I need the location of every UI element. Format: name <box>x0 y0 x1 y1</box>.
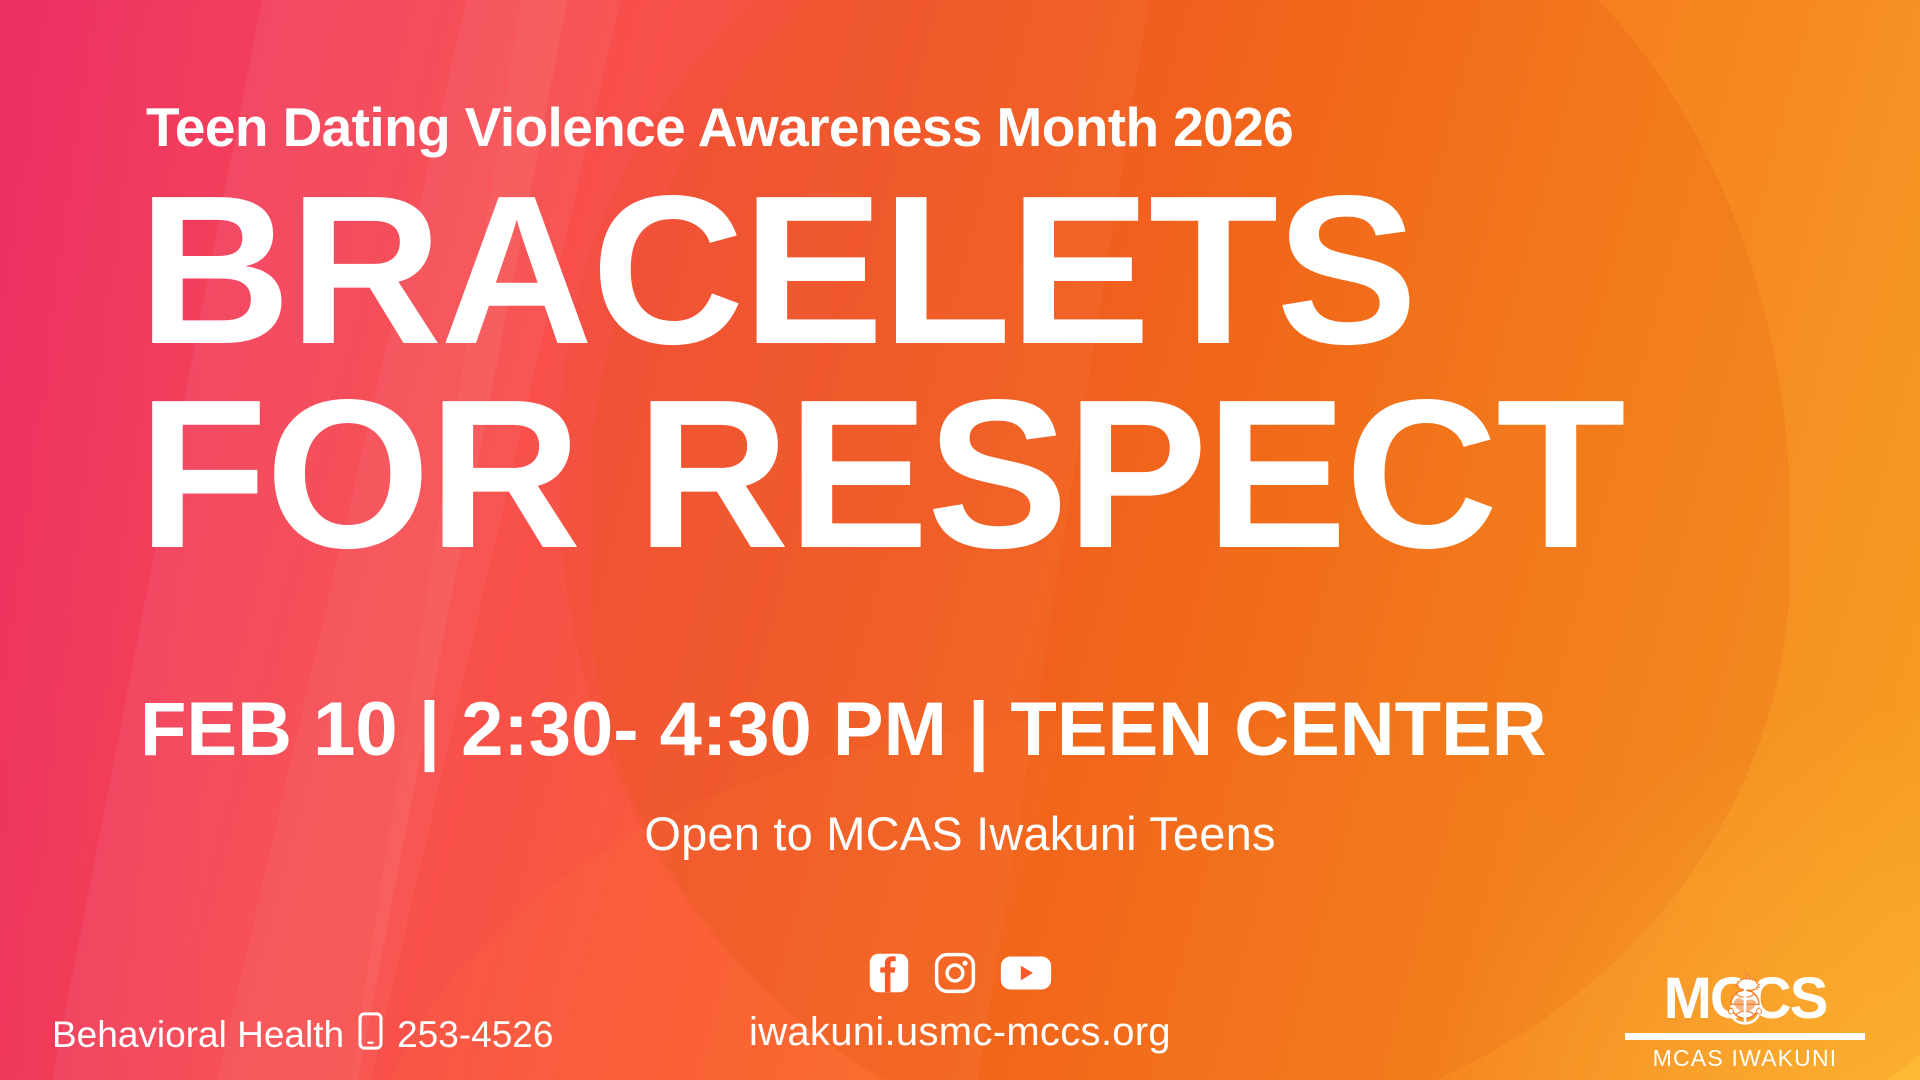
campaign-eyebrow: Teen Dating Violence Awareness Month 202… <box>146 100 1293 155</box>
event-title-line-2: FOR RESPECT <box>138 372 1818 576</box>
facebook-icon[interactable] <box>868 952 910 999</box>
eagle-globe-anchor-icon <box>1712 967 1778 1033</box>
event-title: BRACELETS FOR RESPECT <box>138 168 1818 575</box>
event-datetime-location: FEB 10 | 2:30- 4:30 PM | TEEN CENTER <box>140 692 1547 768</box>
mccs-logo-divider <box>1625 1033 1865 1040</box>
youtube-icon[interactable] <box>1000 952 1052 999</box>
poster-canvas: Teen Dating Violence Awareness Month 202… <box>0 0 1920 1080</box>
mccs-wordmark-row: MCCS <box>1625 968 1865 1030</box>
eligibility-note: Open to MCAS Iwakuni Teens <box>0 810 1920 857</box>
instagram-icon[interactable] <box>934 952 976 999</box>
event-title-line-1: BRACELETS <box>138 151 1416 388</box>
mccs-logo-subtitle: MCAS IWAKUNI <box>1625 1047 1865 1070</box>
contact-department: Behavioral Health <box>52 1016 344 1053</box>
mobile-phone-icon <box>358 1012 383 1056</box>
mccs-logo: MCCS <box>1625 968 1865 1070</box>
contact-block: Behavioral Health 253-4526 <box>52 1012 553 1056</box>
contact-phone-number[interactable]: 253-4526 <box>397 1016 553 1053</box>
